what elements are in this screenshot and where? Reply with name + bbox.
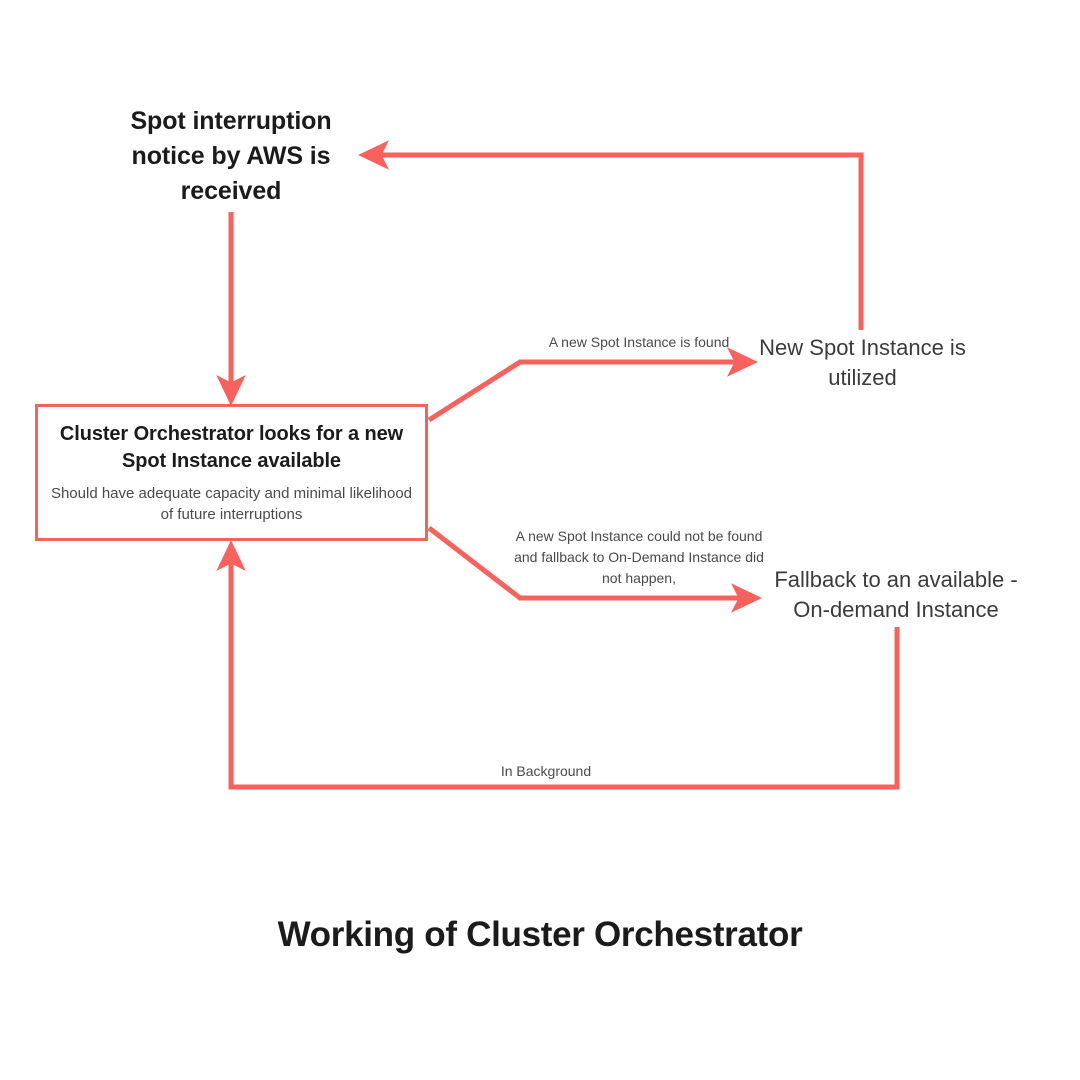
node-cluster-orchestrator: Cluster Orchestrator looks for a new Spo… [35,404,428,541]
node-spot-interruption-notice: Spot interruption notice by AWS is recei… [96,104,366,209]
edge-label-in-background: In Background [446,761,646,782]
edge-found [429,362,748,420]
edge-label-spot-found: A new Spot Instance is found [519,332,759,353]
node-new-spot-instance-utilized: New Spot Instance is utilized [740,333,985,393]
diagram-canvas: Spot interruption notice by AWS is recei… [0,0,1080,1080]
diagram-caption: Working of Cluster Orchestrator [0,915,1080,955]
node-cluster-orchestrator-title: Cluster Orchestrator looks for a new Spo… [50,421,413,475]
edge-spot-to-start [368,155,861,330]
edge-label-spot-not-found: A new Spot Instance could not be found a… [510,526,768,589]
node-cluster-orchestrator-subtitle: Should have adequate capacity and minima… [50,483,413,525]
node-fallback-on-demand-instance: Fallback to an available -On-demand Inst… [762,565,1030,625]
